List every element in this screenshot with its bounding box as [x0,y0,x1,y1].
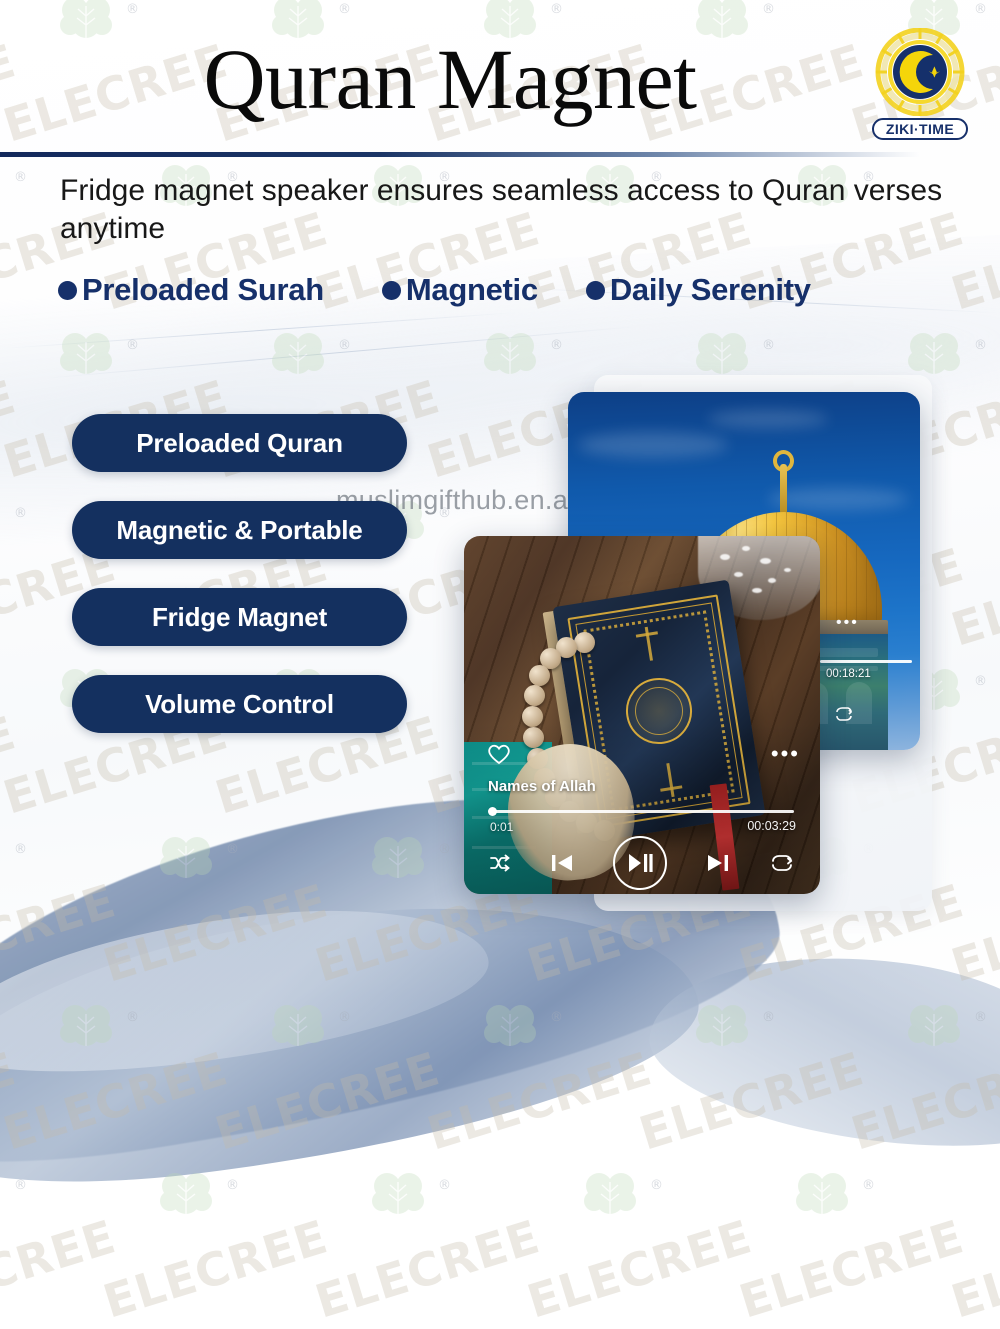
front-card-player-overlay: ••• Names of Allah 0:01 00:03:29 [464,536,820,894]
registered-mark-watermark: ® [650,1178,663,1193]
elapsed-time: 0:01 [490,820,513,834]
feature-pill-magnetic-portable[interactable]: Magnetic & Portable [72,501,407,559]
track-title: Names of Allah [488,778,596,795]
previous-track-icon[interactable] [549,851,575,875]
elecree-watermark: ELECREE [97,1209,334,1328]
duration-time: 00:03:29 [747,819,796,833]
tree-watermark-icon [370,1170,426,1230]
feature-pill-fridge-magnet[interactable]: Fridge Magnet [72,588,407,646]
elecree-watermark: ELECREE [733,1209,970,1328]
elapsed-time: 00:18:21 [826,668,871,680]
progress-bar[interactable] [490,810,794,813]
registered-mark-watermark: ® [14,1178,27,1193]
elecree-watermark: ELECREE [0,1209,122,1328]
elecree-watermark: ELECREE [945,1209,1000,1328]
heart-icon[interactable] [486,742,512,771]
more-options-icon[interactable]: ••• [836,614,859,632]
tree-watermark-icon [158,1170,214,1230]
tree-watermark-icon [794,1170,850,1230]
player-controls [464,836,820,890]
registered-mark-watermark: ® [862,1178,875,1193]
progress-bar[interactable] [820,660,912,663]
progress-knob[interactable] [488,807,497,816]
repeat-icon[interactable] [769,853,795,873]
play-pause-icon[interactable] [613,836,667,890]
next-track-icon[interactable] [705,851,731,875]
registered-mark-watermark: ® [226,1178,239,1193]
media-card-front[interactable]: ••• Names of Allah 0:01 00:03:29 [464,536,820,894]
tree-watermark-icon [0,1170,2,1230]
feature-pill-volume-control[interactable]: Volume Control [72,675,407,733]
elecree-watermark: ELECREE [309,1209,546,1328]
feature-pill-list: Preloaded Quran Magnetic & Portable Frid… [72,414,407,733]
more-options-icon[interactable]: ••• [771,750,800,758]
elecree-watermark: ELECREE [521,1209,758,1328]
shuffle-icon[interactable] [489,854,511,872]
tree-watermark-icon [582,1170,638,1230]
feature-pill-preloaded-quran[interactable]: Preloaded Quran [72,414,407,472]
repeat-icon[interactable] [834,706,854,727]
registered-mark-watermark: ® [438,1178,451,1193]
